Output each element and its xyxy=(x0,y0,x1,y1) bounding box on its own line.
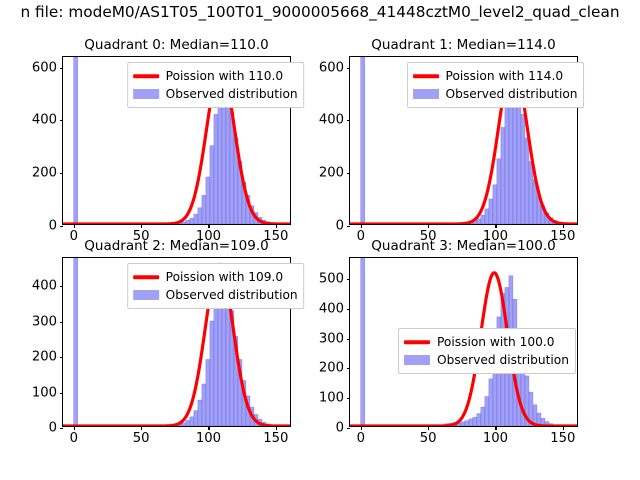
xtick-label: 100 xyxy=(196,431,221,446)
xtick-mark xyxy=(208,224,209,228)
xtick-mark xyxy=(141,426,142,430)
legend-entry-observed: Observed distribution xyxy=(133,286,298,304)
axes-quadrant-0: Quadrant 0: Median=110.0 050100150 02004… xyxy=(62,56,291,225)
ytick-label: 0 xyxy=(336,219,344,234)
ytick-label: 100 xyxy=(319,391,344,406)
ytick-mark xyxy=(60,120,64,121)
xtick-label: 150 xyxy=(263,431,288,446)
ytick-label: 200 xyxy=(319,166,344,181)
xtick-label: 0 xyxy=(357,229,365,244)
legend-label-poisson: Poission with 110.0 xyxy=(166,70,284,82)
ytick-mark xyxy=(347,120,351,121)
legend-entry-poisson: Poission with 100.0 xyxy=(404,333,569,351)
xtick-label: 150 xyxy=(550,431,575,446)
legend-label-poisson: Poission with 109.0 xyxy=(166,271,284,283)
ytick-mark xyxy=(347,428,351,429)
ytick-mark xyxy=(347,173,351,174)
ytick-label: 400 xyxy=(32,279,57,294)
ytick-mark xyxy=(60,322,64,323)
axes-title-quadrant-3: Quadrant 3: Median=100.0 xyxy=(371,238,555,254)
figure-suptitle: n file: modeM0/AS1T05_100T01_9000005668_… xyxy=(20,2,619,22)
ytick-label: 300 xyxy=(32,314,57,329)
legend-entry-poisson: Poission with 114.0 xyxy=(413,67,578,85)
ytick-label: 600 xyxy=(319,60,344,75)
legend-patch-swatch-icon xyxy=(133,288,159,302)
legend-quadrant-1: Poission with 114.0 Observed distributio… xyxy=(407,62,585,108)
ytick-mark xyxy=(347,309,351,310)
ytick-mark xyxy=(60,286,64,287)
legend-patch-swatch-icon xyxy=(404,353,430,367)
xtick-mark xyxy=(276,224,277,228)
ytick-mark xyxy=(347,68,351,69)
legend-line-swatch-icon xyxy=(133,270,159,284)
legend-label-observed: Observed distribution xyxy=(437,354,569,366)
ytick-mark xyxy=(60,428,64,429)
legend-entry-observed: Observed distribution xyxy=(404,351,569,369)
legend-patch-swatch-icon xyxy=(413,87,439,101)
ytick-label: 200 xyxy=(32,166,57,181)
axes-title-quadrant-0: Quadrant 0: Median=110.0 xyxy=(84,37,268,53)
ytick-mark xyxy=(347,398,351,399)
legend-quadrant-0: Poission with 110.0 Observed distributio… xyxy=(127,62,305,108)
legend-label-observed: Observed distribution xyxy=(446,88,578,100)
xtick-label: 100 xyxy=(483,431,508,446)
legend-label-poisson: Poission with 114.0 xyxy=(446,70,564,82)
legend-label-observed: Observed distribution xyxy=(166,289,298,301)
xtick-mark xyxy=(361,426,362,430)
xtick-mark xyxy=(563,224,564,228)
xtick-label: 50 xyxy=(420,431,437,446)
ytick-label: 500 xyxy=(319,271,344,286)
ytick-label: 100 xyxy=(32,385,57,400)
ytick-mark xyxy=(347,339,351,340)
xtick-mark xyxy=(428,426,429,430)
legend-entry-poisson: Poission with 109.0 xyxy=(133,268,298,286)
ytick-label: 200 xyxy=(32,350,57,365)
legend-line-swatch-icon xyxy=(133,69,159,83)
axes-title-quadrant-2: Quadrant 2: Median=109.0 xyxy=(84,238,268,254)
axes-quadrant-2: Quadrant 2: Median=109.0 050100150 01002… xyxy=(62,257,291,427)
ytick-label: 0 xyxy=(49,219,57,234)
ytick-mark xyxy=(60,357,64,358)
xtick-mark xyxy=(495,224,496,228)
xtick-mark xyxy=(208,426,209,430)
matplotlib-figure: n file: modeM0/AS1T05_100T01_9000005668_… xyxy=(0,0,640,480)
xtick-mark xyxy=(428,224,429,228)
ytick-label: 600 xyxy=(32,60,57,75)
legend-label-observed: Observed distribution xyxy=(166,88,298,100)
legend-entry-observed: Observed distribution xyxy=(413,85,578,103)
axes-quadrant-1: Quadrant 1: Median=114.0 050100150 02004… xyxy=(349,56,578,225)
legend-line-swatch-icon xyxy=(413,69,439,83)
legend-quadrant-2: Poission with 109.0 Observed distributio… xyxy=(127,263,305,309)
ytick-mark xyxy=(347,368,351,369)
xtick-mark xyxy=(361,224,362,228)
ytick-mark xyxy=(60,226,64,227)
ytick-mark xyxy=(60,393,64,394)
ytick-mark xyxy=(60,173,64,174)
legend-label-poisson: Poission with 100.0 xyxy=(437,336,555,348)
xtick-label: 0 xyxy=(357,431,365,446)
ytick-label: 300 xyxy=(319,331,344,346)
xtick-mark xyxy=(276,426,277,430)
ytick-label: 0 xyxy=(336,421,344,436)
xtick-label: 50 xyxy=(133,431,150,446)
ytick-mark xyxy=(347,279,351,280)
legend-patch-swatch-icon xyxy=(133,87,159,101)
ytick-mark xyxy=(60,68,64,69)
legend-entry-poisson: Poission with 110.0 xyxy=(133,67,298,85)
legend-quadrant-3: Poission with 100.0 Observed distributio… xyxy=(398,328,576,374)
xtick-label: 0 xyxy=(70,229,78,244)
xtick-mark xyxy=(495,426,496,430)
ytick-label: 400 xyxy=(319,113,344,128)
ytick-label: 400 xyxy=(319,301,344,316)
xtick-mark xyxy=(74,224,75,228)
legend-entry-observed: Observed distribution xyxy=(133,85,298,103)
ytick-mark xyxy=(347,226,351,227)
axes-title-quadrant-1: Quadrant 1: Median=114.0 xyxy=(371,37,555,53)
xtick-label: 0 xyxy=(70,431,78,446)
ytick-label: 0 xyxy=(49,421,57,436)
xtick-mark xyxy=(141,224,142,228)
legend-line-swatch-icon xyxy=(404,335,430,349)
ytick-label: 200 xyxy=(319,361,344,376)
axes-quadrant-3: Quadrant 3: Median=100.0 050100150 01002… xyxy=(349,257,578,427)
ytick-label: 400 xyxy=(32,113,57,128)
xtick-mark xyxy=(563,426,564,430)
xtick-mark xyxy=(74,426,75,430)
